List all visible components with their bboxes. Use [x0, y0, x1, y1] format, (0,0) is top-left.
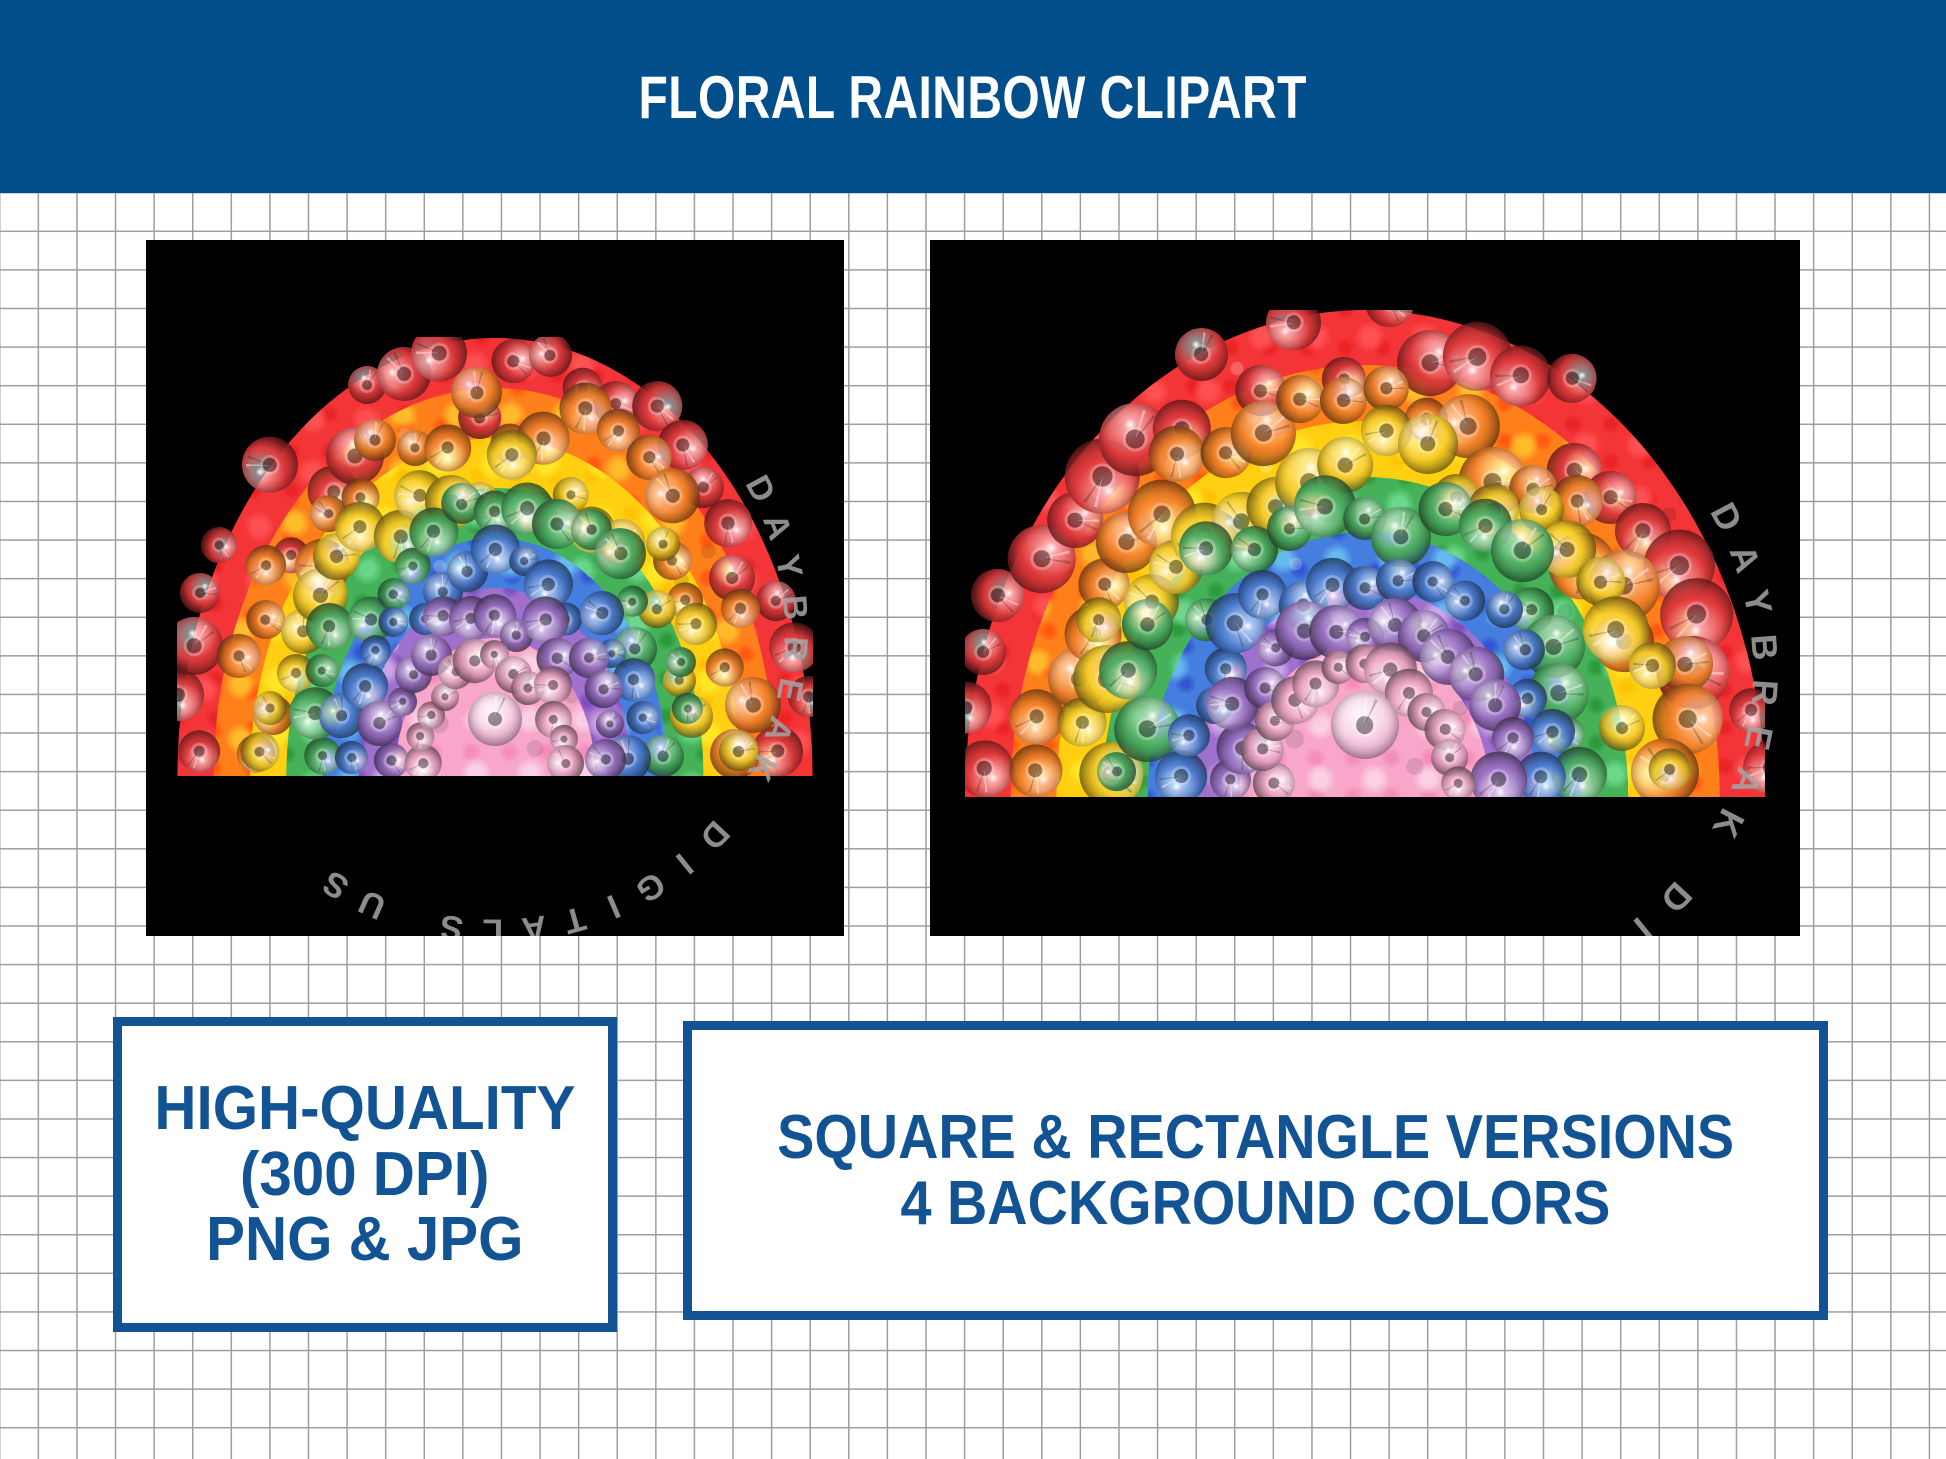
watermark-char: B	[774, 593, 815, 620]
quality-line-1: HIGH-QUALITY	[155, 1076, 576, 1142]
watermark-char: R	[1742, 678, 1786, 707]
watermark-char: G	[1582, 929, 1628, 936]
page-title: FLORAL RAINBOW CLIPART	[639, 68, 1307, 128]
versions-line-2: 4 BACKGROUND COLORS	[901, 1171, 1611, 1237]
watermark-char: G	[629, 863, 672, 910]
watermark-char: L	[482, 910, 503, 936]
watermark-char: I	[1625, 908, 1659, 936]
preview-square-version[interactable]: DAYBREAK DIGITALS US	[146, 240, 844, 936]
watermark-char: S	[1238, 927, 1281, 936]
center-lotus-flower	[468, 692, 522, 746]
preview-rectangle-version[interactable]: DAYBREAK DIGITALS US	[930, 240, 1800, 936]
feature-box-versions: SQUARE & RECTANGLE VERSIONS 4 BACKGROUND…	[683, 1021, 1828, 1320]
header-banner: FLORAL RAINBOW CLIPART	[0, 0, 1946, 193]
watermark-char: I	[668, 845, 700, 881]
versions-line-1: SQUARE & RECTANGLE VERSIONS	[777, 1105, 1734, 1171]
watermark-char: S	[316, 862, 356, 907]
watermark-char: D	[1652, 873, 1700, 921]
quality-line-2: (300 DPI)	[240, 1142, 489, 1208]
watermark-char: U	[353, 881, 391, 927]
watermark-char: R	[774, 635, 814, 662]
watermark-char: I	[601, 886, 625, 926]
rainbow-arch-square	[177, 337, 812, 775]
watermark-char: T	[559, 897, 589, 936]
center-lotus-flower	[1331, 691, 1399, 759]
flower-orange	[354, 419, 396, 461]
watermark-char: D	[692, 812, 737, 857]
quality-line-3: PNG & JPG	[206, 1207, 523, 1273]
watermark-char: K	[1703, 802, 1752, 844]
listing-graphic: FLORAL RAINBOW CLIPART DAYBREAK DIGITALS…	[0, 0, 1946, 1459]
floral-rainbow-artwork-square: DAYBREAK DIGITALS US	[146, 240, 844, 936]
watermark-char: S	[438, 906, 466, 936]
feature-box-quality: HIGH-QUALITY (300 DPI) PNG & JPG	[113, 1017, 617, 1332]
watermark-char: B	[1742, 632, 1786, 661]
floral-rainbow-artwork-rectangle: DAYBREAK DIGITALS US	[930, 240, 1800, 936]
watermark-char: A	[519, 906, 548, 936]
rainbow-arch-rectangle	[965, 310, 1765, 797]
